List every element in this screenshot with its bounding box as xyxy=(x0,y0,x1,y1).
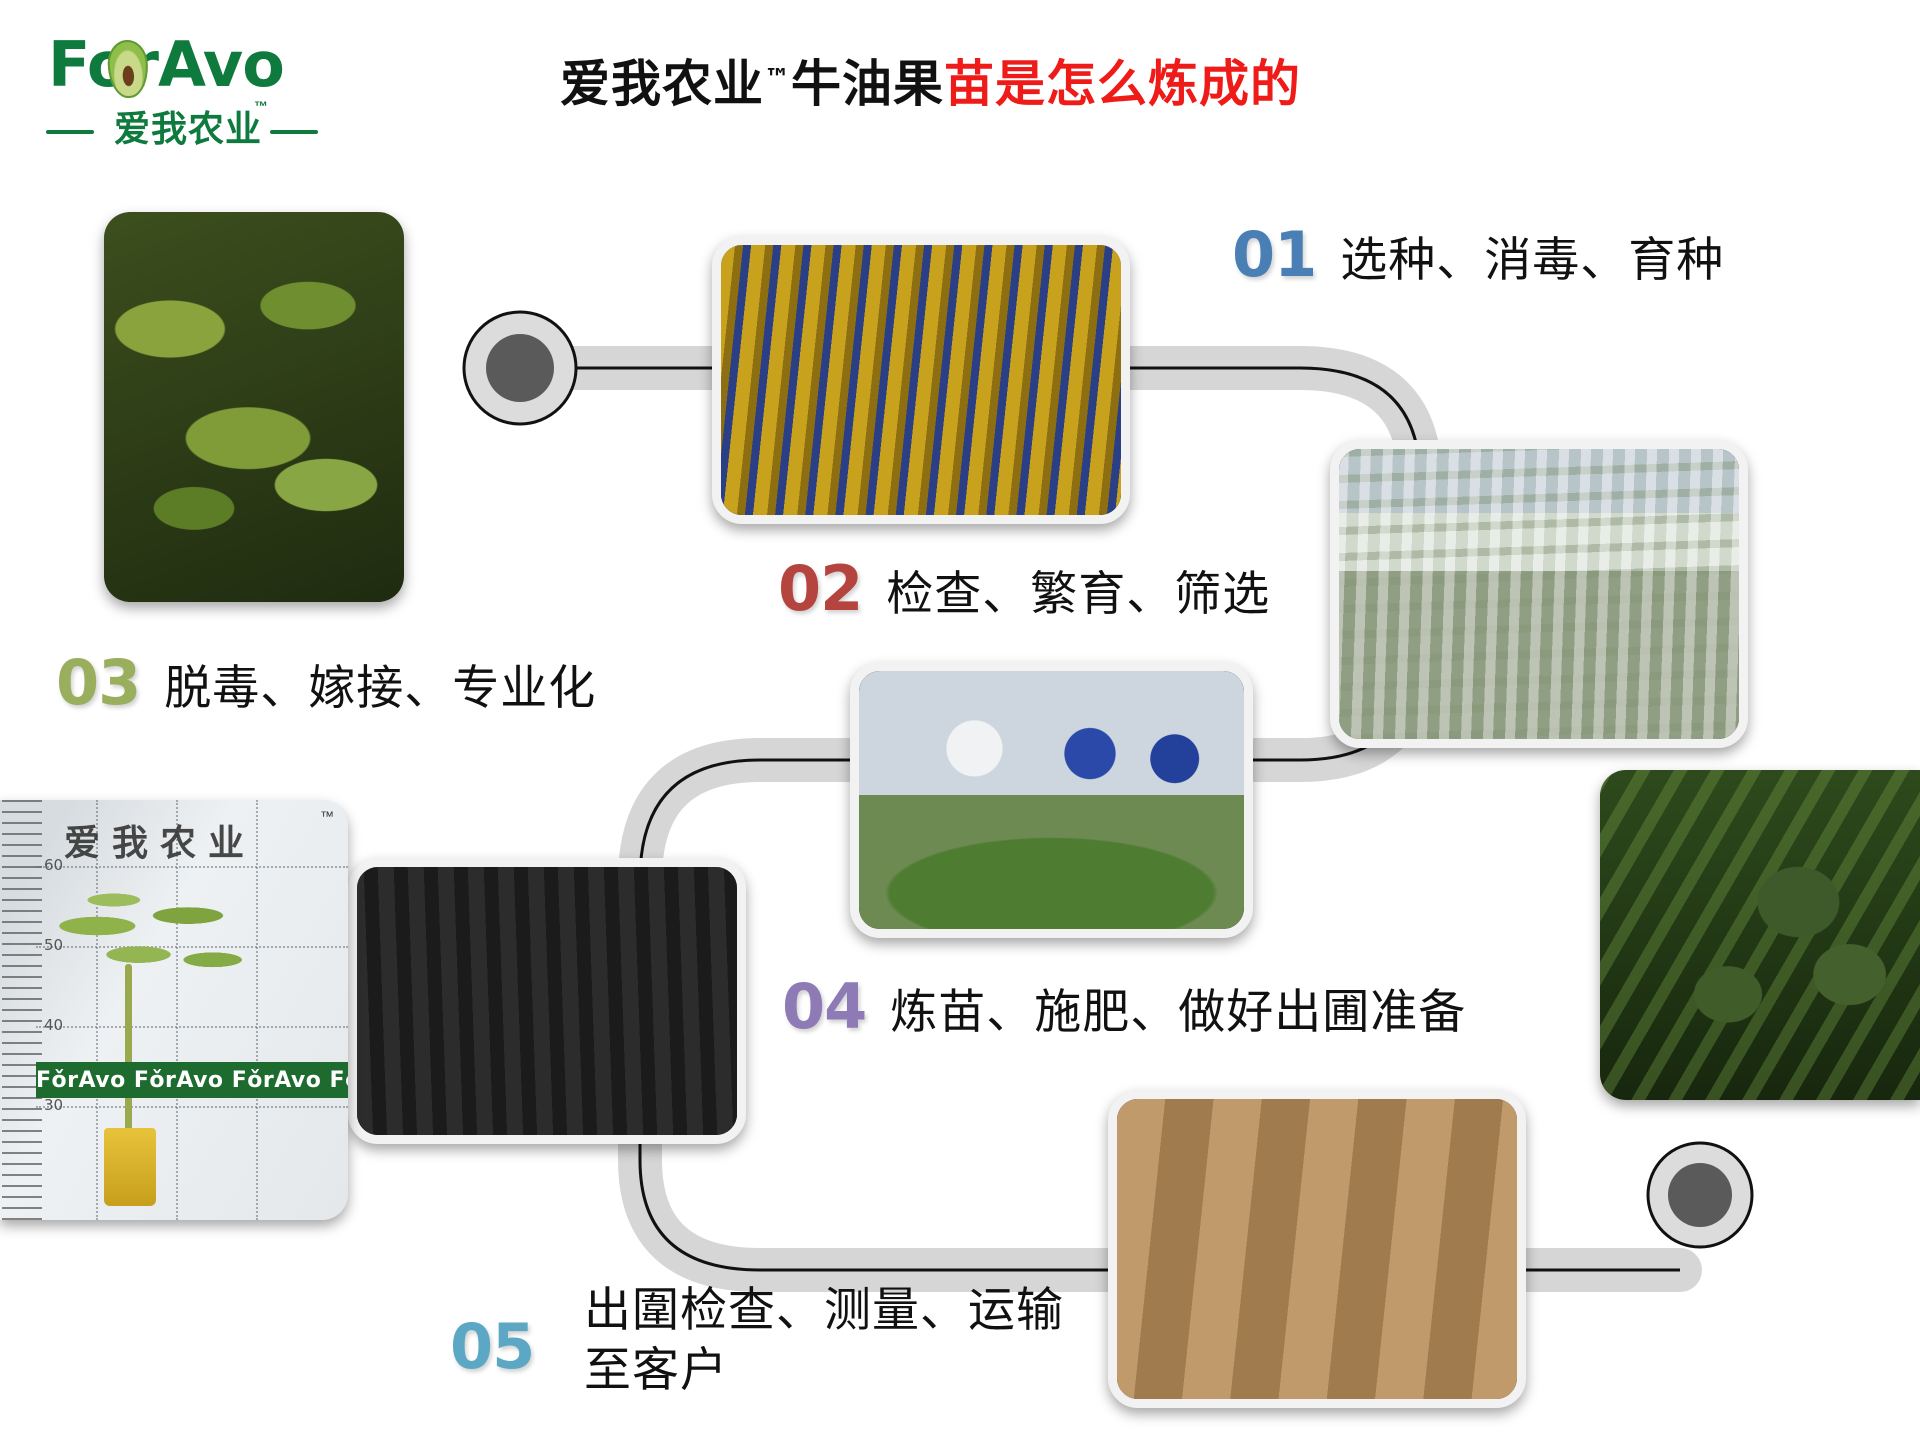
step-05-number: 05 xyxy=(450,1310,534,1383)
seedling-foliage xyxy=(52,874,258,1004)
step-03-number: 03 xyxy=(56,646,140,719)
step-04-number: 04 xyxy=(782,970,866,1043)
photo-technicians-inspecting-seedlings xyxy=(850,662,1253,938)
ruler-trademark: ™ xyxy=(320,808,334,824)
photo-avocado-flowering-branch xyxy=(104,212,404,602)
photo-image xyxy=(859,671,1244,929)
step-05-label-line2: 至客户 xyxy=(584,1342,728,1400)
start-node xyxy=(464,312,576,424)
photo-image xyxy=(1600,770,1920,1100)
step-03-label: 脱毒、嫁接、专业化 xyxy=(164,661,596,716)
photo-image xyxy=(104,212,404,602)
photo-greenhouse-grafting-bags xyxy=(1330,440,1748,748)
ruler-brand-band: FǒrAvo FǒrAvo FǒrAvo FǒrAvo xyxy=(36,1062,348,1098)
photo-image xyxy=(721,245,1121,515)
ruler-tick-60: 60 xyxy=(44,856,63,874)
photo-potted-seedlings-rows xyxy=(348,858,746,1144)
ruler-brand-text: 爱我农业 xyxy=(64,814,256,866)
step-03: 03脱毒、嫁接、专业化 xyxy=(56,646,596,719)
photo-packed-cartons-shipping xyxy=(1108,1090,1526,1408)
step-04-label: 炼苗、施肥、做好出圃准备 xyxy=(890,985,1466,1040)
photo-image xyxy=(1339,449,1739,739)
photo-avocado-fruit-on-tree xyxy=(1600,770,1920,1100)
photo-image: 60 50 40 30 爱我农业 ™ FǒrAvo FǒrAvo FǒrAvo … xyxy=(0,800,348,1220)
step-02-number: 02 xyxy=(778,552,862,625)
photo-image xyxy=(1117,1099,1517,1399)
step-02: 02检查、繁育、筛选 xyxy=(778,552,1270,625)
end-node xyxy=(1648,1143,1752,1247)
step-01-number: 01 xyxy=(1232,218,1316,291)
ruler-scale-strip xyxy=(2,800,42,1220)
step-04: 04炼苗、施肥、做好出圃准备 xyxy=(782,970,1466,1043)
step-02-label: 检查、繁育、筛选 xyxy=(886,567,1270,622)
ruler-tick-30: 30 xyxy=(44,1096,63,1114)
photo-image xyxy=(357,867,737,1135)
photo-seed-germination-trays xyxy=(712,236,1130,524)
photo-measured-seedling-ruler: 60 50 40 30 爱我农业 ™ FǒrAvo FǒrAvo FǒrAvo … xyxy=(0,800,348,1220)
step-01: 01选种、消毒、育种 xyxy=(1232,218,1724,291)
infographic-canvas: ForAvo 爱我农业 ™ 爱我农业™牛油果苗是怎么炼成的 xyxy=(0,0,1920,1440)
step-05-label-line1: 出圍检查、测量、运输 xyxy=(584,1282,1064,1340)
step-01-label: 选种、消毒、育种 xyxy=(1340,233,1724,288)
seedling-pot xyxy=(104,1128,156,1206)
ruler-tick-40: 40 xyxy=(44,1016,63,1034)
seedling-stem xyxy=(125,964,132,1154)
